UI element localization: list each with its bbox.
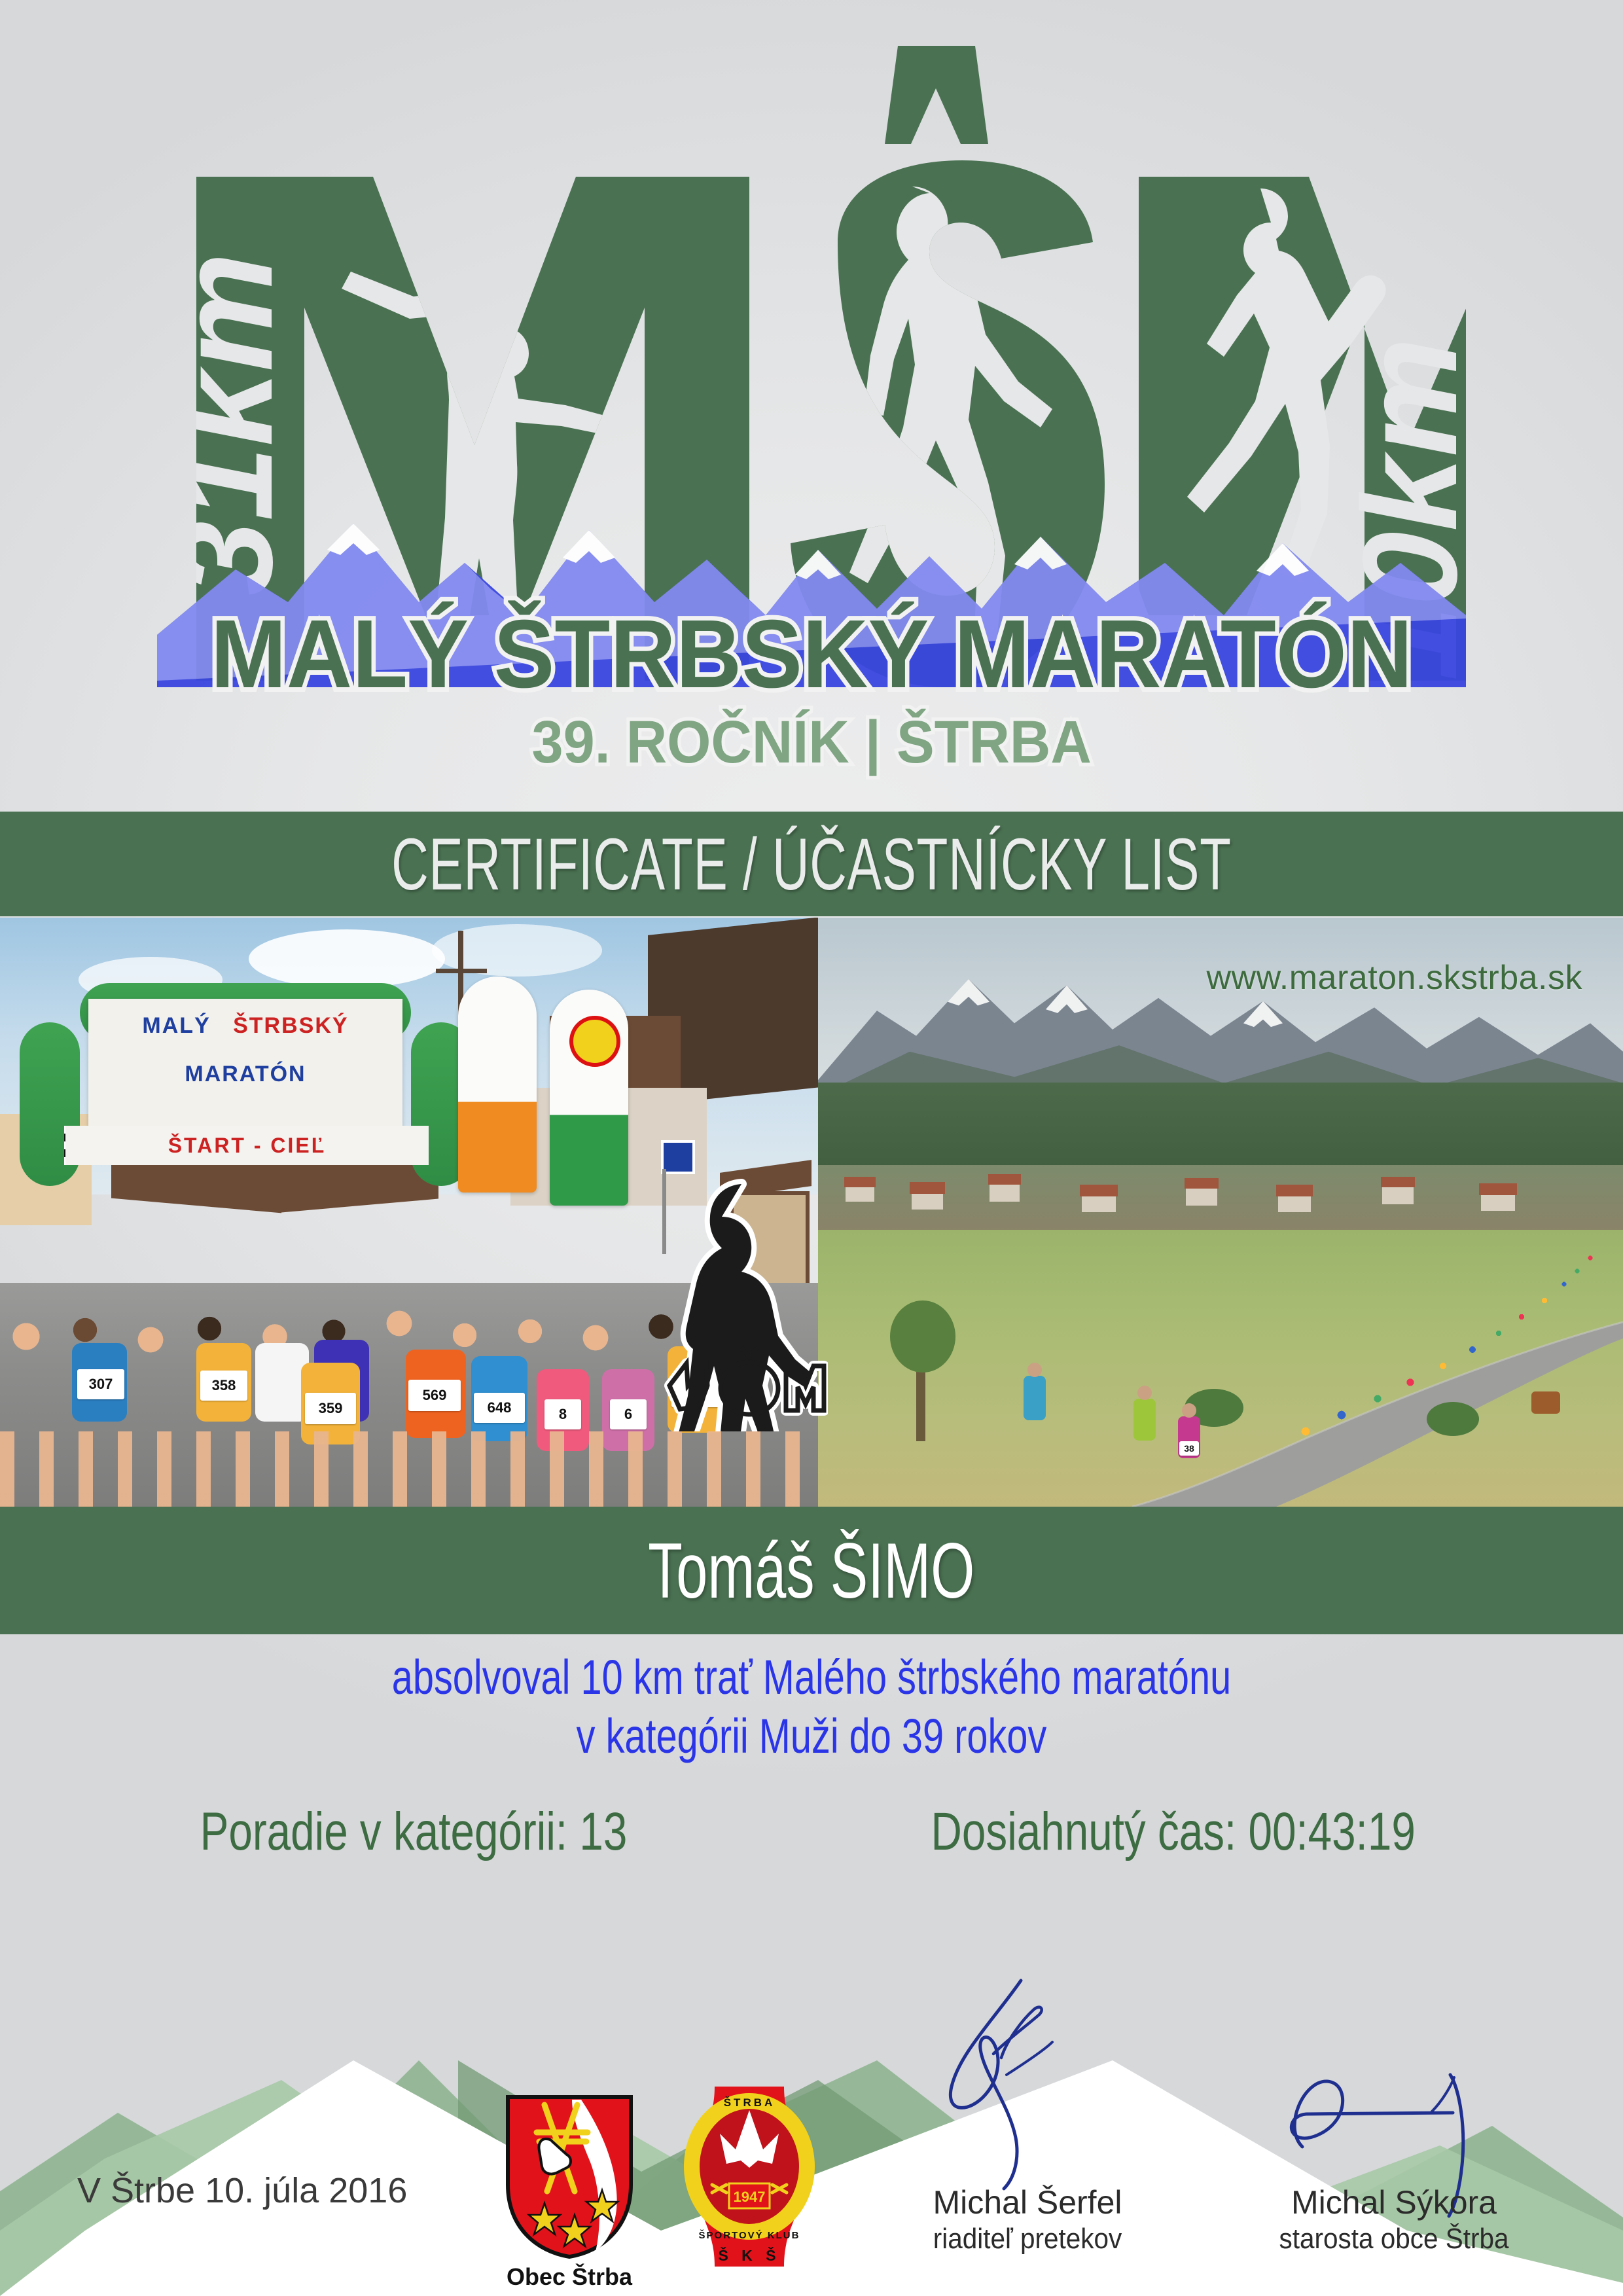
spectator <box>1024 1376 1046 1420</box>
arch-word-strbsky: ŠTRBSKÝ <box>233 1013 348 1038</box>
start-finish-banner: ŠTART - CIEĽ <box>65 1126 429 1165</box>
distant-runners <box>818 918 1623 1507</box>
logo-title: MALÝ ŠTRBSKÝ MARATÓN <box>211 600 1413 708</box>
bib-number: 648 <box>474 1393 525 1423</box>
achievement-block: absolvoval 10 km trať Malého štrbského m… <box>0 1636 1623 1872</box>
club-ring-label: ŠPORTOVÝ KLUB <box>699 2229 800 2241</box>
bib-number: 569 <box>408 1380 461 1411</box>
runner-legs <box>0 1431 818 1507</box>
result-row: Poradie v kategórii: 13 Dosiahnutý čas: … <box>0 1801 1623 1863</box>
logo-left-distance-label: 31km <box>157 253 300 596</box>
coat-of-arms-caption: Obec Štrba <box>504 2263 635 2291</box>
participant-name-bar: Tomáš ŠIMO <box>0 1507 1623 1634</box>
foreground-runner-head <box>1182 1403 1196 1418</box>
foreground-runner <box>1133 1399 1156 1441</box>
inflatable-start-arch: MALÝ ŠTRBSKÝ MARATÓN ŠTART - CIEĽ <box>20 983 471 1199</box>
finish-time: Dosiahnutý čas: 00:43:19 <box>931 1801 1416 1863</box>
bib-number: 8 <box>544 1399 581 1429</box>
logo-subtitle: 39. ROČNÍK | ŠTRBA <box>532 708 1092 776</box>
photo-strip: MALÝ ŠTRBSKÝ MARATÓN ŠTART - CIEĽ <box>0 918 1623 1507</box>
bib-number: 6 <box>610 1399 647 1429</box>
arch-banner-line1: MALÝ ŠTRBSKÝ <box>88 1013 402 1039</box>
sks-flag-badge <box>569 1016 620 1067</box>
certificate-heading-text: CERTIFICATE / ÚČASTNÍCKY LIST <box>391 822 1232 906</box>
sponsor-flag-tatry <box>458 977 537 1193</box>
bib-number: 358 <box>200 1371 247 1401</box>
signature-role: starosta obce Štrba <box>1243 2223 1544 2255</box>
arch-banner-line2: MARATÓN <box>88 1062 402 1087</box>
category-rank: Poradie v kategórii: 13 <box>200 1801 628 1863</box>
certificate-heading-bar: CERTIFICATE / ÚČASTNÍCKY LIST <box>0 812 1623 916</box>
start-finish-text: ŠTART - CIEĽ <box>168 1134 327 1158</box>
foreground-runner-head <box>1137 1386 1152 1400</box>
website-url: www.maraton.skstrba.sk <box>1207 958 1583 997</box>
bib-number: 38 <box>1179 1441 1199 1456</box>
caron-accent <box>885 46 988 144</box>
signature-name: Michal Šerfel <box>877 2183 1178 2221</box>
club-top-label: ŠTRBA <box>724 2096 776 2109</box>
certificate-page: 31km 10km <box>0 0 1623 2296</box>
sks-strba-club-logo: 1947 ŠTRBA ŠPORTOVÝ KLUB Š K Š <box>681 2087 818 2267</box>
msm-runner-cutout <box>658 1170 828 1431</box>
club-bottom-label: Š K Š <box>718 2246 780 2264</box>
achievement-line-2: v kategórii Muži do 39 rokov <box>179 1708 1444 1764</box>
cloud <box>249 929 445 988</box>
signature-role: riaditeľ pretekov <box>889 2223 1166 2255</box>
msm-logo-svg: 31km 10km <box>157 26 1466 785</box>
handwritten-signature <box>923 1977 1132 2193</box>
event-logo-block: 31km 10km <box>0 26 1623 785</box>
arch-banner: MALÝ ŠTRBSKÝ MARATÓN <box>88 999 402 1130</box>
arch-word-maraton: MARATÓN <box>185 1062 306 1086</box>
spectator-head <box>1027 1363 1042 1377</box>
bib-number: 307 <box>77 1369 124 1399</box>
bib-number: 359 <box>305 1393 356 1424</box>
achievement-line-1: absolvoval 10 km trať Malého štrbského m… <box>179 1649 1444 1705</box>
obec-strba-coat-of-arms <box>504 2093 635 2260</box>
club-founding-year: 1947 <box>734 2189 766 2205</box>
place-and-date: V Štrbe 10. júla 2016 <box>77 2170 407 2211</box>
participant-name: Tomáš ŠIMO <box>648 1526 974 1616</box>
arch-word-maly: MALÝ <box>142 1013 210 1038</box>
photo-course-landscape: 38 www.maraton.skstrba.sk <box>818 918 1623 1507</box>
signature-name: Michal Sýkora <box>1230 2183 1558 2221</box>
cow <box>1531 1391 1560 1414</box>
footer: V Štrbe 10. júla 2016 Obec Štrba <box>0 2055 1623 2296</box>
power-crossbar <box>436 969 487 973</box>
